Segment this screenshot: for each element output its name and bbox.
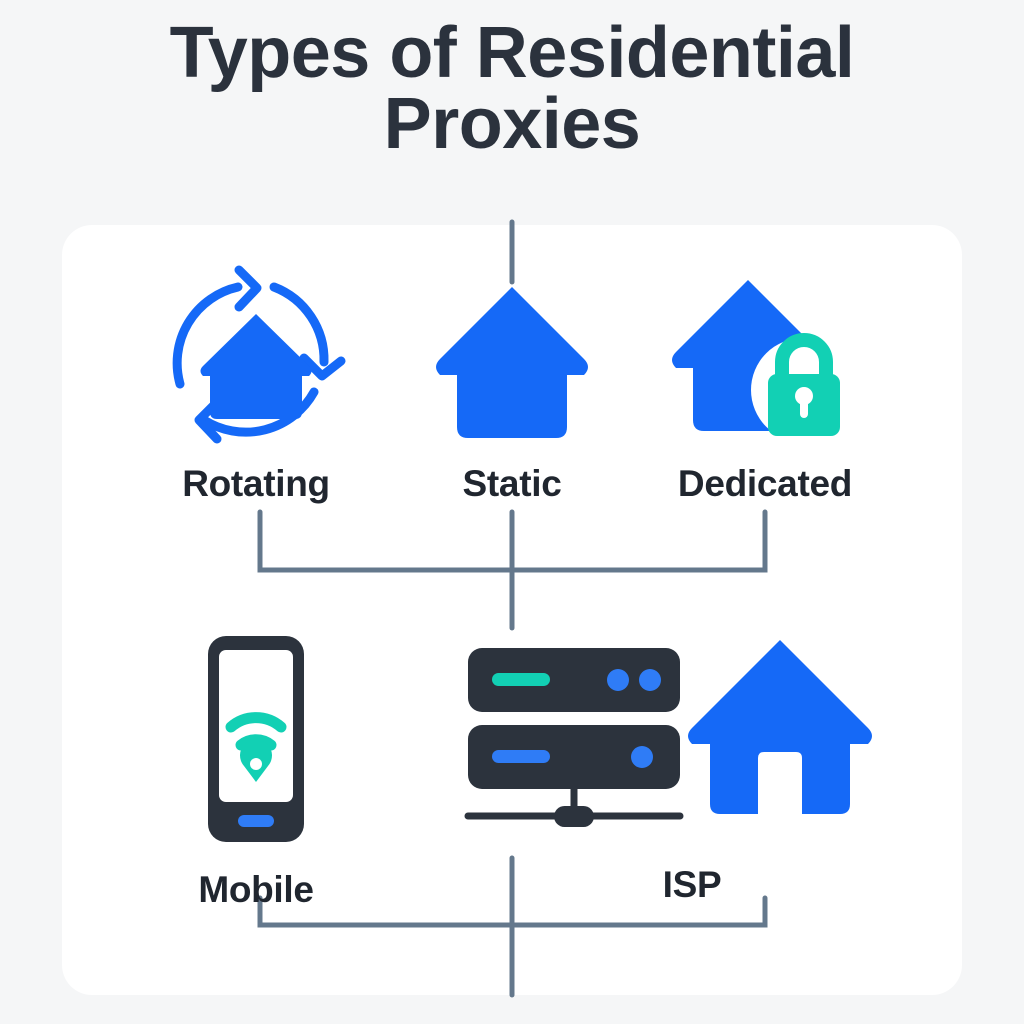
node-dedicated[interactable]: Dedicated — [645, 262, 885, 505]
diagram-canvas: Types of Residential Proxies — [0, 0, 1024, 1024]
node-label-mobile: Mobile — [136, 869, 376, 911]
node-rotating[interactable]: Rotating — [136, 262, 376, 505]
node-label-dedicated: Dedicated — [645, 463, 885, 505]
node-label-isp: ISP — [450, 864, 890, 906]
node-mobile[interactable]: Mobile — [136, 630, 376, 911]
node-label-rotating: Rotating — [136, 463, 376, 505]
rotating-house-icon — [136, 262, 376, 457]
smartphone-wifi-icon — [136, 630, 376, 855]
node-static[interactable]: Static — [392, 262, 632, 505]
house-with-lock-icon — [645, 262, 885, 457]
node-isp[interactable]: ISP — [450, 630, 890, 906]
page-title: Types of Residential Proxies — [0, 18, 1024, 161]
node-label-static: Static — [392, 463, 632, 505]
server-rack-house-icon — [450, 630, 890, 850]
house-icon — [392, 262, 632, 457]
